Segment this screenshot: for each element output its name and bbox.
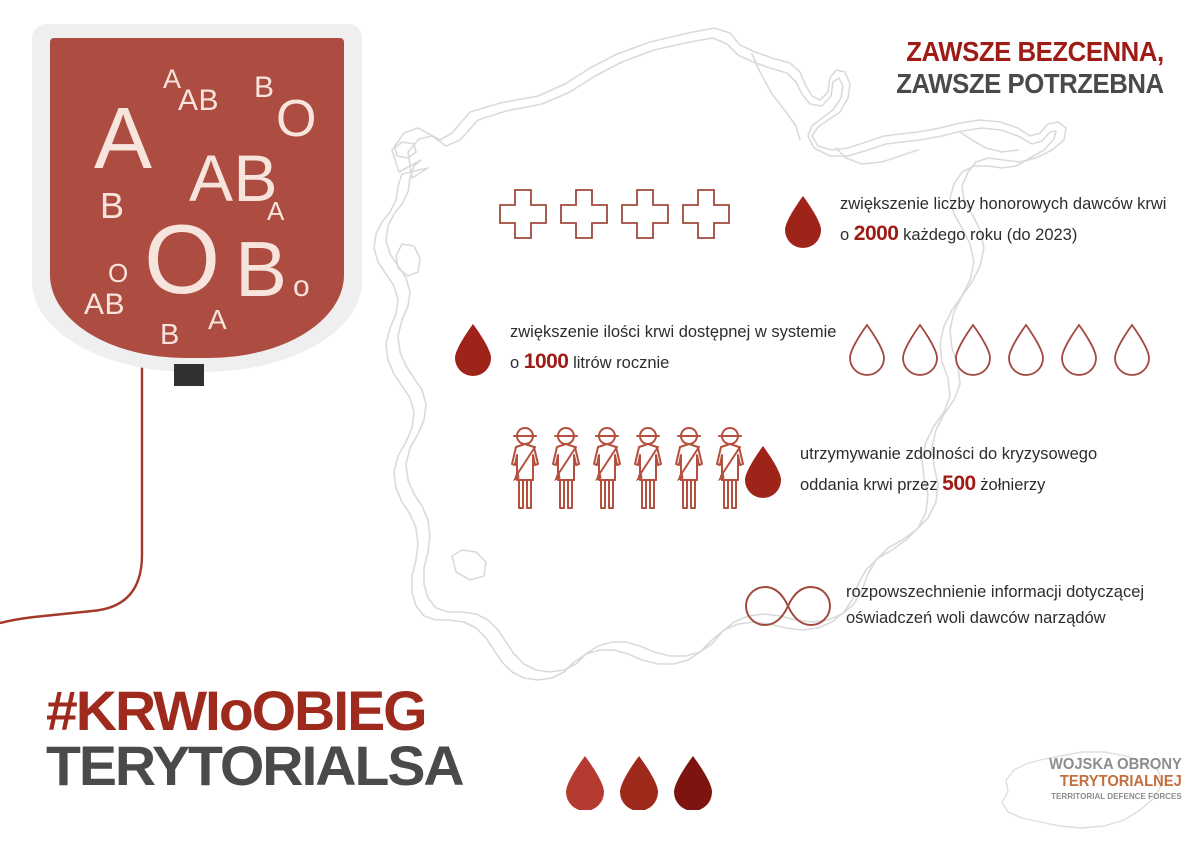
fact-soldiers-line-2-pre: oddania krwi przez (800, 476, 942, 494)
medical-cross-icon (681, 188, 731, 240)
blood-type-letter: O (144, 210, 221, 308)
fact-organs-text: rozpowszechnienie informacji dotyczącej … (846, 580, 1144, 631)
fact-organs-line-1: rozpowszechnienie informacji dotyczącej (846, 580, 1144, 606)
soldier-icon (670, 424, 708, 512)
soldier-icon (629, 424, 667, 512)
blood-bag: AABBOAABBAOBOoABAB (32, 24, 362, 394)
fact-litres-line-2-pre: o (510, 354, 524, 372)
blood-drop-filled-icon (617, 754, 661, 810)
fact-soldiers-text: utrzymywanie zdolności do kryzysowego od… (800, 442, 1097, 500)
blood-bag-body: AABBOAABBAOBOoABAB (50, 38, 344, 358)
blood-type-letter: AB (84, 290, 125, 320)
blood-type-letter: AB (189, 145, 278, 211)
blood-drop-outline-icon (1058, 322, 1100, 376)
fact-litres-number: 1000 (524, 350, 569, 373)
blood-type-letter: B (100, 188, 125, 224)
blood-type-letter: A (94, 95, 153, 182)
fact-litres-text: zwiększenie ilości krwi dostępnej w syst… (510, 320, 836, 378)
blood-type-letter: o (293, 272, 310, 302)
blood-type-letter: B (160, 321, 180, 350)
blood-bag-tube (0, 355, 240, 645)
fact-donors: zwiększenie liczby honorowych dawców krw… (782, 192, 1166, 250)
fact-soldiers-number: 500 (942, 472, 976, 495)
headline: ZAWSZE BEZCENNA, ZAWSZE POTRZEBNA (873, 36, 1164, 100)
hashtag-line-2: TERYTORIALSA (46, 739, 463, 792)
blood-drop-icon (742, 444, 784, 498)
fact-soldiers: utrzymywanie zdolności do kryzysowego od… (742, 442, 1097, 500)
fact-soldiers-line-2: oddania krwi przez 500 żołnierzy (800, 468, 1097, 501)
blood-drop-filled-icon (563, 754, 607, 810)
blood-type-letter: A (267, 198, 285, 224)
blood-drop-icon (452, 322, 494, 376)
blood-type-letter: B (254, 73, 275, 103)
headline-line-2: ZAWSZE POTRZEBNA (897, 68, 1164, 100)
blood-drop-outline-icon (846, 322, 888, 376)
fact-donors-line-2-post: każdego roku (do 2023) (898, 226, 1077, 244)
logo-line-3: TERRITORIAL DEFENCE FORCES (1049, 791, 1182, 802)
fact-donors-number: 2000 (854, 222, 899, 245)
blood-drop-icon (782, 194, 824, 248)
blood-drop-outline-icon (1111, 322, 1153, 376)
fact-litres-line-1: zwiększenie ilości krwi dostępnej w syst… (510, 320, 836, 346)
cross-icon-row (498, 188, 731, 240)
fact-organs: rozpowszechnienie informacji dotyczącej … (744, 580, 1144, 632)
medical-cross-icon (559, 188, 609, 240)
hashtag-line-1: #KRWIoOBIEG (46, 684, 463, 737)
soldier-icon (547, 424, 585, 512)
fact-donors-line-2: o 2000 każdego roku (do 2023) (840, 218, 1166, 251)
wot-logo: WOJSKA OBRONY TERYTORIALNEJ TERRITORIAL … (986, 740, 1186, 836)
infinity-icon (744, 580, 832, 632)
drop-filled-row (563, 754, 715, 810)
fact-soldiers-line-1: utrzymywanie zdolności do kryzysowego (800, 442, 1097, 468)
blood-type-letter: AB (178, 86, 219, 116)
fact-organs-line-2: oświadczeń woli dawców narządów (846, 606, 1144, 632)
blood-type-letter: O (108, 260, 129, 286)
hashtag-block: #KRWIoOBIEG TERYTORIALSA (46, 684, 454, 792)
soldier-icon (588, 424, 626, 512)
blood-bag-nozzle (174, 364, 204, 386)
fact-donors-line-2-pre: o (840, 226, 854, 244)
fact-litres: zwiększenie ilości krwi dostępnej w syst… (452, 320, 836, 378)
blood-type-letter: O (276, 93, 317, 145)
logo-line-1: WOJSKA OBRONY (1049, 756, 1182, 773)
soldier-icon (506, 424, 544, 512)
logo-text: WOJSKA OBRONY TERYTORIALNEJ TERRITORIAL … (1042, 756, 1182, 802)
blood-drop-outline-icon (1005, 322, 1047, 376)
blood-type-letter: A (208, 306, 227, 334)
blood-drop-outline-icon (899, 322, 941, 376)
drop-outline-row (846, 322, 1153, 376)
medical-cross-icon (620, 188, 670, 240)
fact-litres-line-2-post: litrów rocznie (568, 354, 669, 372)
fact-donors-line-1: zwiększenie liczby honorowych dawców krw… (840, 192, 1166, 218)
fact-litres-line-2: o 1000 litrów rocznie (510, 346, 836, 379)
medical-cross-icon (498, 188, 548, 240)
fact-donors-text: zwiększenie liczby honorowych dawców krw… (840, 192, 1166, 250)
blood-drop-filled-icon (671, 754, 715, 810)
infographic-canvas: AABBOAABBAOBOoABAB ZAWSZE BEZCENNA, ZAWS… (0, 0, 1200, 848)
blood-drop-outline-icon (952, 322, 994, 376)
fact-soldiers-line-2-post: żołnierzy (976, 476, 1046, 494)
logo-line-2: TERYTORIALNEJ (1049, 773, 1182, 790)
headline-line-1: ZAWSZE BEZCENNA, (897, 36, 1164, 68)
soldier-icon-row (506, 424, 749, 512)
blood-type-letter: B (235, 230, 288, 308)
